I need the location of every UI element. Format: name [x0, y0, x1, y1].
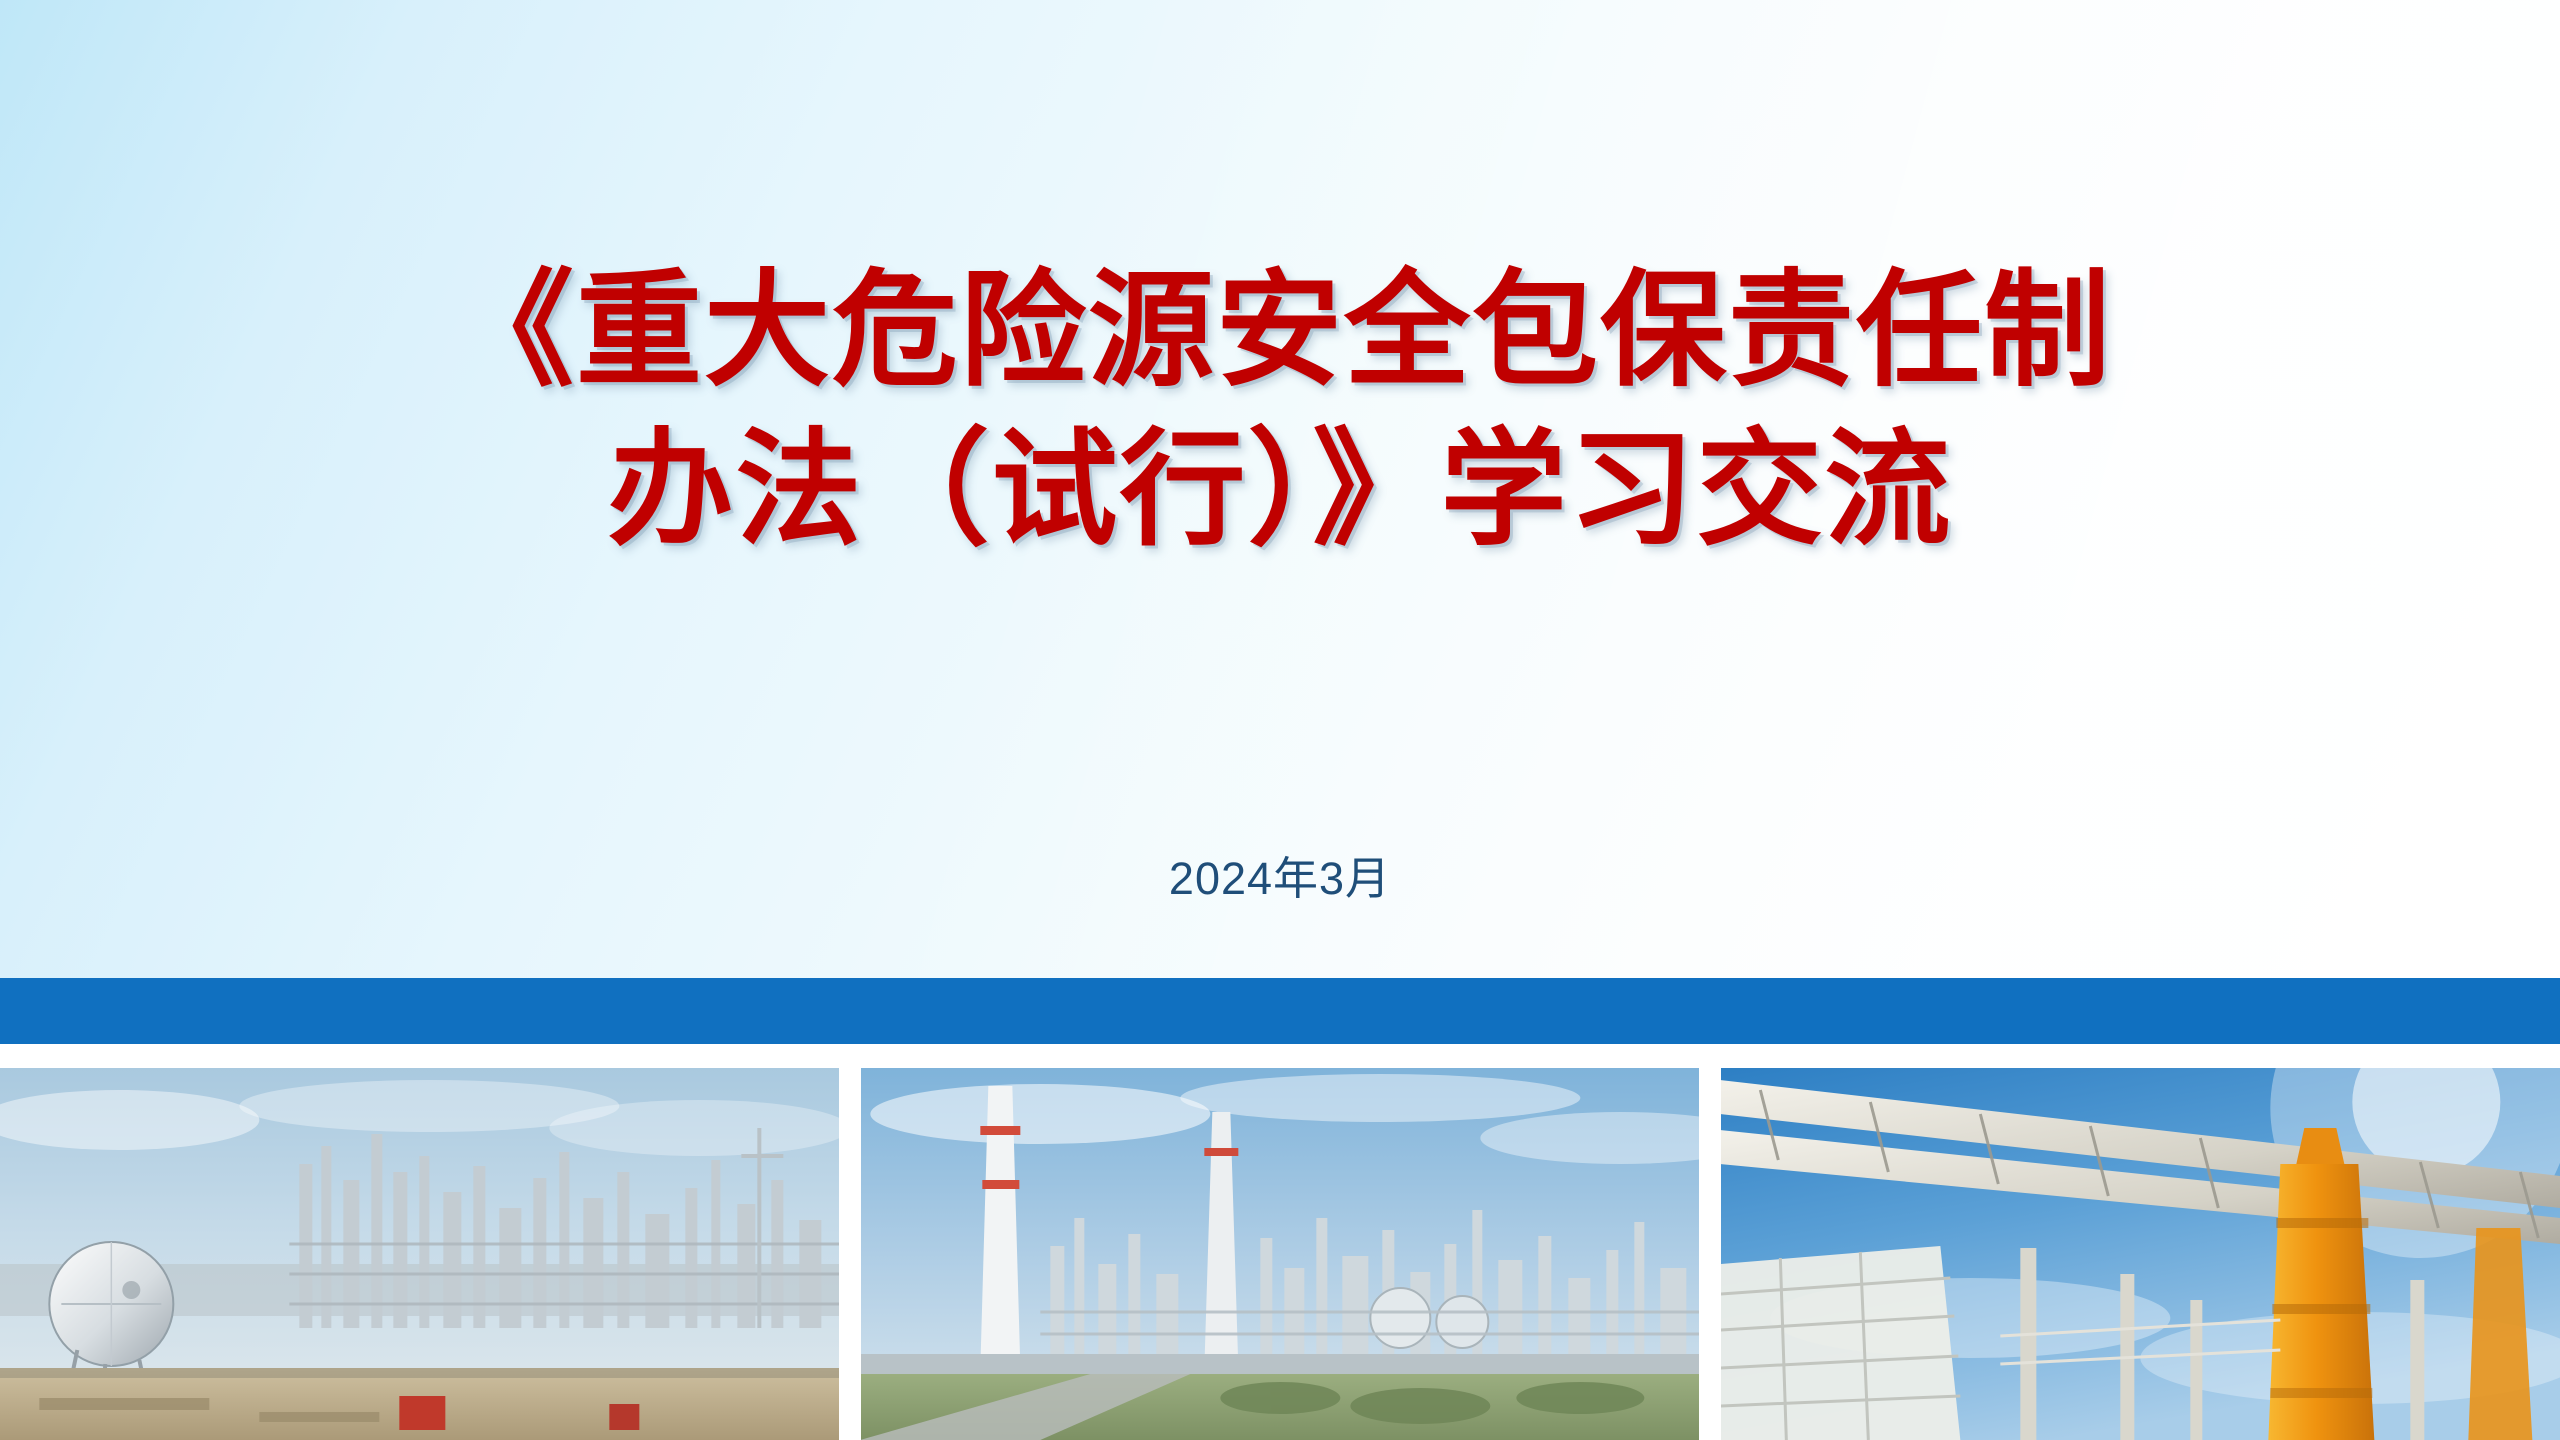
- title-line-2: 办法（试行）》学习交流: [0, 411, 2560, 570]
- title-line-1: 《重大危险源安全包保责任制: [0, 252, 2560, 411]
- page-title: 《重大危险源安全包保责任制 办法（试行）》学习交流: [0, 252, 2560, 570]
- photo-chemical-plant-stacks: [861, 1068, 1700, 1440]
- photo-refinery-tanks: [0, 1068, 839, 1440]
- photo-strip: [0, 1068, 2560, 1440]
- date-label: 2024年3月: [0, 842, 2560, 907]
- blue-divider-band: [0, 978, 2560, 1044]
- photo-pipe-rack-structure: [1721, 1068, 2560, 1440]
- title-slide: 《重大危险源安全包保责任制 办法（试行）》学习交流 2024年3月: [0, 0, 2560, 1440]
